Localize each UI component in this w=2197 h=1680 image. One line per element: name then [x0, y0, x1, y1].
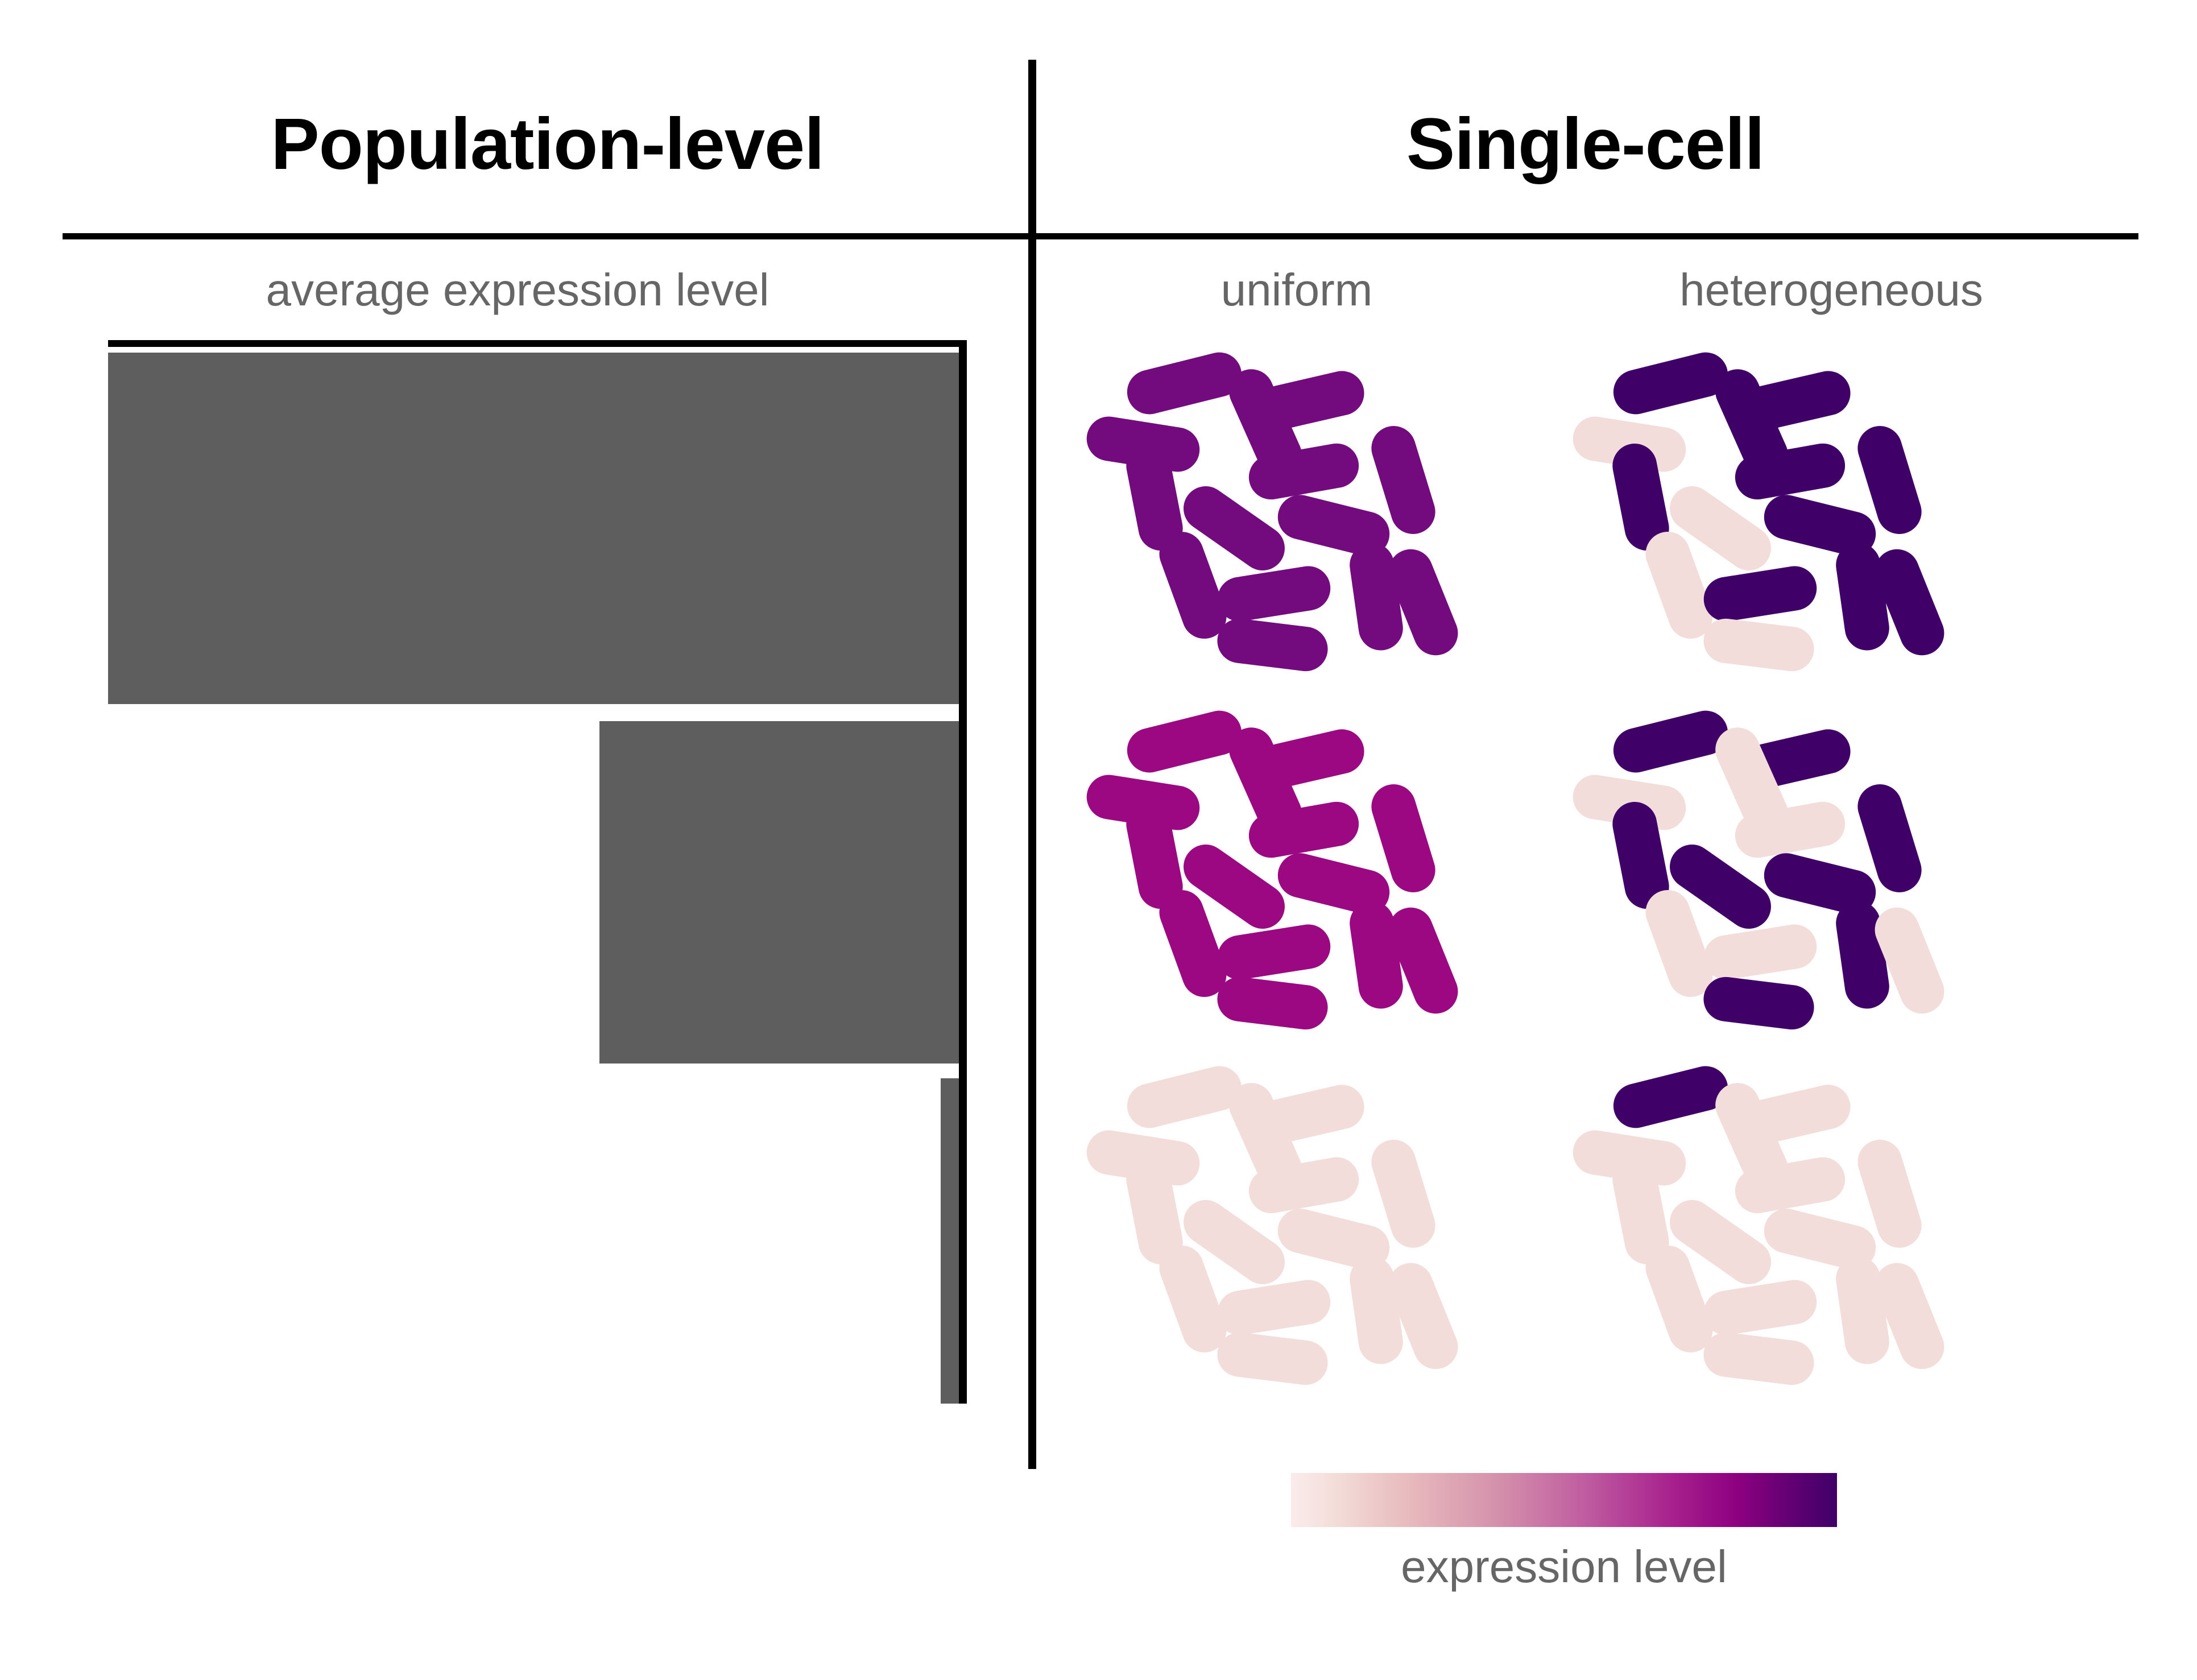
cell-rod: [1215, 1330, 1330, 1387]
cell-rod: [1609, 706, 1733, 777]
bar-high: [108, 353, 959, 704]
cell-rod: [1700, 921, 1820, 983]
cell-cluster-uniform-medium: [1095, 711, 1493, 1052]
colorbar-label: expression level: [1291, 1544, 1837, 1590]
cell-rod: [1700, 1277, 1820, 1338]
column-label-heterogeneous: heterogeneous: [1547, 267, 2116, 313]
cell-cluster-heterogeneous-medium: [1581, 711, 1979, 1052]
cell-rod: [1700, 563, 1820, 624]
cell-rod: [1214, 563, 1334, 624]
bar-chart: [0, 0, 1032, 1680]
chart-vertical-axis: [959, 340, 967, 1404]
cell-rod: [1701, 1330, 1817, 1387]
cell-rod: [1609, 347, 1733, 419]
bar-medium: [599, 721, 959, 1064]
cell-rod: [1701, 974, 1817, 1032]
cell-rod: [1609, 1061, 1733, 1132]
cell-rod: [1123, 706, 1247, 777]
cell-rod: [1701, 616, 1817, 673]
page-title-single-cell: Single-cell: [1032, 108, 2138, 181]
cell-rod: [1215, 974, 1330, 1032]
chart-top-rule: [108, 340, 967, 347]
colorbar-legend: expression level: [1291, 1473, 1837, 1661]
colorbar-gradient: [1291, 1473, 1837, 1527]
cell-cluster-uniform-low: [1095, 1066, 1493, 1408]
cell-rod: [1214, 1277, 1334, 1338]
figure-root: Population-level Single-cell average exp…: [0, 0, 2197, 1680]
cell-rod: [1123, 1061, 1247, 1132]
cell-cluster-uniform-high: [1095, 353, 1493, 694]
cell-rod: [1215, 616, 1330, 673]
cell-cluster-heterogeneous-high: [1581, 353, 1979, 694]
cell-rod: [1123, 347, 1247, 419]
column-label-uniform: uniform: [1081, 267, 1513, 313]
cell-rod: [1214, 921, 1334, 983]
bar-low: [941, 1078, 959, 1404]
cell-cluster-heterogeneous-low: [1581, 1066, 1979, 1408]
